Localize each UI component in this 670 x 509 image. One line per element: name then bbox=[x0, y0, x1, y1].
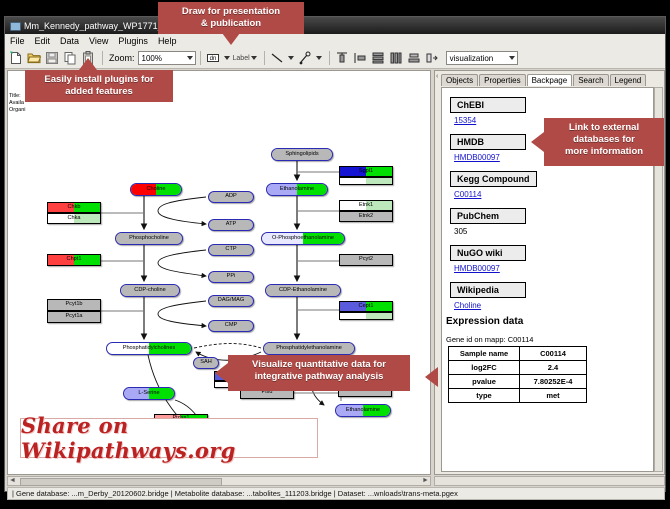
visualization-combo[interactable]: visualization bbox=[446, 51, 518, 65]
link-callout-line2: databases for bbox=[550, 134, 658, 146]
share-callout-text: Share on Wikipathways.org bbox=[21, 413, 317, 463]
cell-value: 7.80252E-4 bbox=[520, 375, 587, 389]
node-label: Pisd bbox=[262, 390, 273, 396]
node-o-phosphoethanolamine[interactable]: O-Phosphoethanolamine bbox=[261, 232, 345, 245]
node-choline-top[interactable]: Choline bbox=[130, 183, 182, 196]
node-chkb[interactable]: Chkb bbox=[47, 202, 101, 213]
visualize-callout-line2: integrative pathway analysis bbox=[234, 371, 404, 383]
new-file-icon[interactable] bbox=[8, 50, 24, 66]
node-label: Phosphatidylcholines bbox=[123, 346, 176, 352]
visualize-callout-arrow bbox=[215, 363, 228, 383]
tab-backpage[interactable]: Backpage bbox=[527, 74, 573, 86]
draw-callout: Draw for presentation & publication bbox=[158, 2, 304, 34]
db-value-pubchem: 305 bbox=[454, 227, 653, 236]
chevron-down-icon bbox=[509, 56, 515, 60]
cell-key: pvalue bbox=[449, 375, 520, 389]
node-label: Chpt1 bbox=[67, 257, 82, 263]
node-sphingolipids[interactable]: Sphingolipids bbox=[271, 148, 333, 161]
chevron-down-icon bbox=[187, 56, 193, 60]
scroll-right-icon[interactable]: ► bbox=[421, 477, 430, 485]
cell-key: Sample name bbox=[449, 347, 520, 361]
visualization-value: visualization bbox=[450, 54, 494, 63]
open-folder-icon[interactable] bbox=[26, 50, 42, 66]
scroll-left-icon[interactable]: ◄ bbox=[8, 477, 17, 485]
menu-item-help[interactable]: Help bbox=[153, 36, 182, 46]
zoom-label: Zoom: bbox=[109, 53, 135, 63]
db-link-kegg[interactable]: C00114 bbox=[454, 190, 653, 199]
plugins-callout: Easily install plugins for added feature… bbox=[25, 70, 173, 102]
table-row: Sample name C00114 bbox=[449, 347, 587, 361]
title-bar: Mm_Kennedy_pathway_WP1771_45176.gpml bbox=[5, 17, 665, 34]
node-phosphatidylcholines[interactable]: Phosphatidylcholines bbox=[106, 342, 192, 355]
cell-value: 2.4 bbox=[520, 361, 587, 375]
scroll-thumb[interactable] bbox=[20, 478, 222, 486]
plugins-callout-line1: Easily install plugins for bbox=[31, 74, 167, 86]
menu-item-data[interactable]: Data bbox=[55, 36, 84, 46]
node-cdp-choline[interactable]: CDP-choline bbox=[120, 284, 180, 297]
node-label: DAG/MAG bbox=[218, 298, 244, 304]
node-ethanolamine-bottom[interactable]: Ethanolamine bbox=[335, 404, 391, 417]
cell-value: met bbox=[520, 389, 587, 403]
align-top-icon[interactable] bbox=[334, 50, 350, 66]
node-label: ATP bbox=[226, 222, 236, 228]
node-ppi[interactable]: PPi bbox=[208, 271, 254, 283]
db-block-pubchem: PubChem 305 bbox=[450, 206, 653, 236]
draw-callout-line1: Draw for presentation bbox=[164, 6, 298, 18]
screenshot-root: Mm_Kennedy_pathway_WP1771_45176.gpml Fil… bbox=[0, 0, 670, 509]
menu-item-edit[interactable]: Edit bbox=[30, 36, 56, 46]
table-row: type met bbox=[449, 389, 587, 403]
db-link-wikipedia[interactable]: Choline bbox=[454, 301, 653, 310]
visualize-callout-line1: Visualize quantitative data for bbox=[234, 359, 404, 371]
node-cmp[interactable]: CMP bbox=[208, 320, 254, 332]
distribute-vertical-icon[interactable] bbox=[370, 50, 386, 66]
chevron-down-icon[interactable] bbox=[251, 56, 257, 60]
node-label: Ethanolamine bbox=[280, 187, 314, 193]
cell-key: log2FC bbox=[449, 361, 520, 375]
stack-icon[interactable] bbox=[406, 50, 422, 66]
node-l-serine-left[interactable]: L-Serine bbox=[123, 387, 175, 400]
expression-data-heading: Expression data bbox=[446, 316, 653, 327]
node-chpt1[interactable]: Chpt1 bbox=[47, 254, 101, 266]
db-title-nugo: NuGO wiki bbox=[450, 245, 526, 261]
db-title-pubchem: PubChem bbox=[450, 208, 526, 224]
link-callout-line1: Link to external bbox=[550, 122, 658, 134]
chevron-down-icon[interactable] bbox=[316, 56, 322, 60]
chevron-down-icon[interactable] bbox=[224, 56, 230, 60]
node-label: SAH bbox=[200, 360, 212, 366]
node-label: Pcyt2 bbox=[359, 257, 373, 263]
db-block-nugo: NuGO wiki HMDB00097 bbox=[450, 243, 653, 273]
node-label: Ethanolamine bbox=[346, 408, 380, 414]
menu-item-plugins[interactable]: Plugins bbox=[113, 36, 153, 46]
save-icon[interactable] bbox=[44, 50, 60, 66]
expression-table: Sample name C00114 log2FC 2.4 pvalue 7.8… bbox=[448, 346, 587, 403]
cell-key: type bbox=[449, 389, 520, 403]
group-icon[interactable] bbox=[424, 50, 440, 66]
node-ethanolamine-top[interactable]: Ethanolamine bbox=[266, 183, 328, 196]
node-etnk1[interactable]: Etnk1 bbox=[339, 200, 393, 211]
node-atp[interactable]: ATP bbox=[208, 219, 254, 231]
menu-bar: File Edit Data View Plugins Help bbox=[5, 34, 665, 49]
db-title-wikipedia: Wikipedia bbox=[450, 282, 526, 298]
node-etnk2[interactable]: Etnk2 bbox=[339, 211, 393, 222]
db-block-wikipedia: Wikipedia Choline bbox=[450, 280, 653, 310]
interaction-icon[interactable] bbox=[297, 50, 313, 66]
plugins-callout-arrow bbox=[79, 58, 97, 70]
node-label: L-Serine bbox=[138, 391, 159, 397]
share-callout: Share on Wikipathways.org bbox=[20, 418, 318, 458]
cell-value: C00114 bbox=[520, 347, 587, 361]
db-title-kegg: Kegg Compound bbox=[450, 171, 537, 187]
node-label: CMP bbox=[225, 323, 237, 329]
db-link-nugo[interactable]: HMDB00097 bbox=[454, 264, 653, 273]
node-chka[interactable]: Chka bbox=[47, 213, 101, 224]
tab-legend[interactable]: Legend bbox=[610, 74, 647, 86]
node-label: Pcyt1a bbox=[65, 314, 82, 320]
tab-properties[interactable]: Properties bbox=[479, 74, 525, 86]
toolbar-separator-4 bbox=[329, 51, 330, 65]
node-label: Phosphocholine bbox=[129, 236, 169, 242]
plugins-callout-line2: added features bbox=[31, 86, 167, 98]
datanode-icon[interactable]: dn bbox=[205, 50, 221, 66]
node-sgpl1-lower[interactable] bbox=[339, 177, 393, 185]
svg-text:dn: dn bbox=[209, 56, 216, 62]
node-label: Pcyt1b bbox=[65, 302, 82, 308]
node-pcyt2[interactable]: Pcyt2 bbox=[339, 254, 393, 266]
toolbar-separator-2 bbox=[200, 51, 201, 65]
node-sgpl1[interactable]: Sgpl1 bbox=[339, 166, 393, 177]
node-label: O-Phosphoethanolamine bbox=[272, 236, 334, 242]
node-cept1[interactable]: Cept1 bbox=[339, 301, 393, 312]
node-label: Chka bbox=[67, 216, 80, 222]
tool-bar: Zoom: 100% dn Label bbox=[5, 48, 665, 69]
table-row: pvalue 7.80252E-4 bbox=[449, 375, 587, 389]
canvas-horizontal-scrollbar[interactable]: ◄ ► bbox=[7, 476, 431, 486]
zoom-value: 100% bbox=[142, 54, 162, 63]
node-label: Etnk1 bbox=[359, 203, 373, 209]
expression-callout-arrow bbox=[425, 367, 438, 387]
label-dropdown-label: Label bbox=[233, 55, 250, 62]
distribute-horizontal-icon[interactable] bbox=[388, 50, 404, 66]
node-label: PPi bbox=[227, 274, 236, 280]
node-label: CTP bbox=[225, 247, 236, 253]
zoom-combo[interactable]: 100% bbox=[138, 51, 196, 65]
node-label: Sphingolipids bbox=[285, 152, 318, 158]
node-label: Sgpl1 bbox=[359, 169, 373, 175]
align-left-icon[interactable] bbox=[352, 50, 368, 66]
table-row: log2FC 2.4 bbox=[449, 361, 587, 375]
link-callout-line3: more information bbox=[550, 146, 658, 158]
link-callout: Link to external databases for more info… bbox=[544, 118, 664, 166]
side-panel-horizontal-scrollbar[interactable] bbox=[434, 476, 665, 486]
chevron-down-icon[interactable] bbox=[288, 56, 294, 60]
tab-search[interactable]: Search bbox=[573, 74, 608, 86]
node-pcyt1b[interactable]: Pcyt1b bbox=[47, 299, 101, 311]
toolbar-separator-3 bbox=[264, 51, 265, 65]
node-phosphocholine[interactable]: Phosphocholine bbox=[115, 232, 183, 245]
db-title-chebi: ChEBI bbox=[450, 97, 526, 113]
link-callout-arrow bbox=[531, 132, 544, 152]
node-label: Chkb bbox=[67, 205, 80, 211]
menu-item-file[interactable]: File bbox=[5, 36, 30, 46]
copy-icon[interactable] bbox=[62, 50, 78, 66]
node-ctp[interactable]: CTP bbox=[208, 244, 254, 256]
visualize-callout: Visualize quantitative data for integrat… bbox=[228, 355, 410, 391]
node-pcyt1a[interactable]: Pcyt1a bbox=[47, 311, 101, 323]
db-block-kegg: Kegg Compound C00114 bbox=[450, 169, 653, 199]
gene-id-line: Gene id on mapp: C00114 bbox=[446, 335, 653, 344]
toolbar-separator-1 bbox=[102, 51, 103, 65]
line-icon[interactable] bbox=[269, 50, 285, 66]
draw-callout-arrow bbox=[222, 33, 240, 45]
node-label: CDP-Ethanolamine bbox=[279, 288, 327, 294]
app-icon bbox=[9, 20, 20, 31]
draw-callout-line2: & publication bbox=[164, 18, 298, 30]
node-label: Phosphatidylethanolamine bbox=[276, 346, 342, 352]
tab-objects[interactable]: Objects bbox=[441, 74, 478, 86]
node-cdp-ethanolamine[interactable]: CDP-Ethanolamine bbox=[265, 284, 341, 297]
menu-item-view[interactable]: View bbox=[84, 36, 113, 46]
node-label: Cept1 bbox=[359, 304, 374, 310]
node-label: Choline bbox=[147, 187, 166, 193]
node-cept1-lower[interactable] bbox=[339, 312, 393, 320]
db-title-hmdb: HMDB bbox=[450, 134, 526, 150]
node-label: CDP-choline bbox=[134, 288, 165, 294]
status-bar: | Gene database: ...m_Derby_20120602.bri… bbox=[7, 487, 665, 500]
node-dagmag[interactable]: DAG/MAG bbox=[208, 295, 254, 307]
status-text: | Gene database: ...m_Derby_20120602.bri… bbox=[12, 489, 458, 498]
node-phosphatidylethanolamine[interactable]: Phosphatidylethanolamine bbox=[263, 342, 355, 355]
side-panel-tabs: Objects Properties Backpage Search Legen… bbox=[435, 72, 647, 86]
node-adp[interactable]: ADP bbox=[208, 191, 254, 203]
node-label: Etnk2 bbox=[359, 214, 373, 220]
node-label: ADP bbox=[225, 194, 237, 200]
